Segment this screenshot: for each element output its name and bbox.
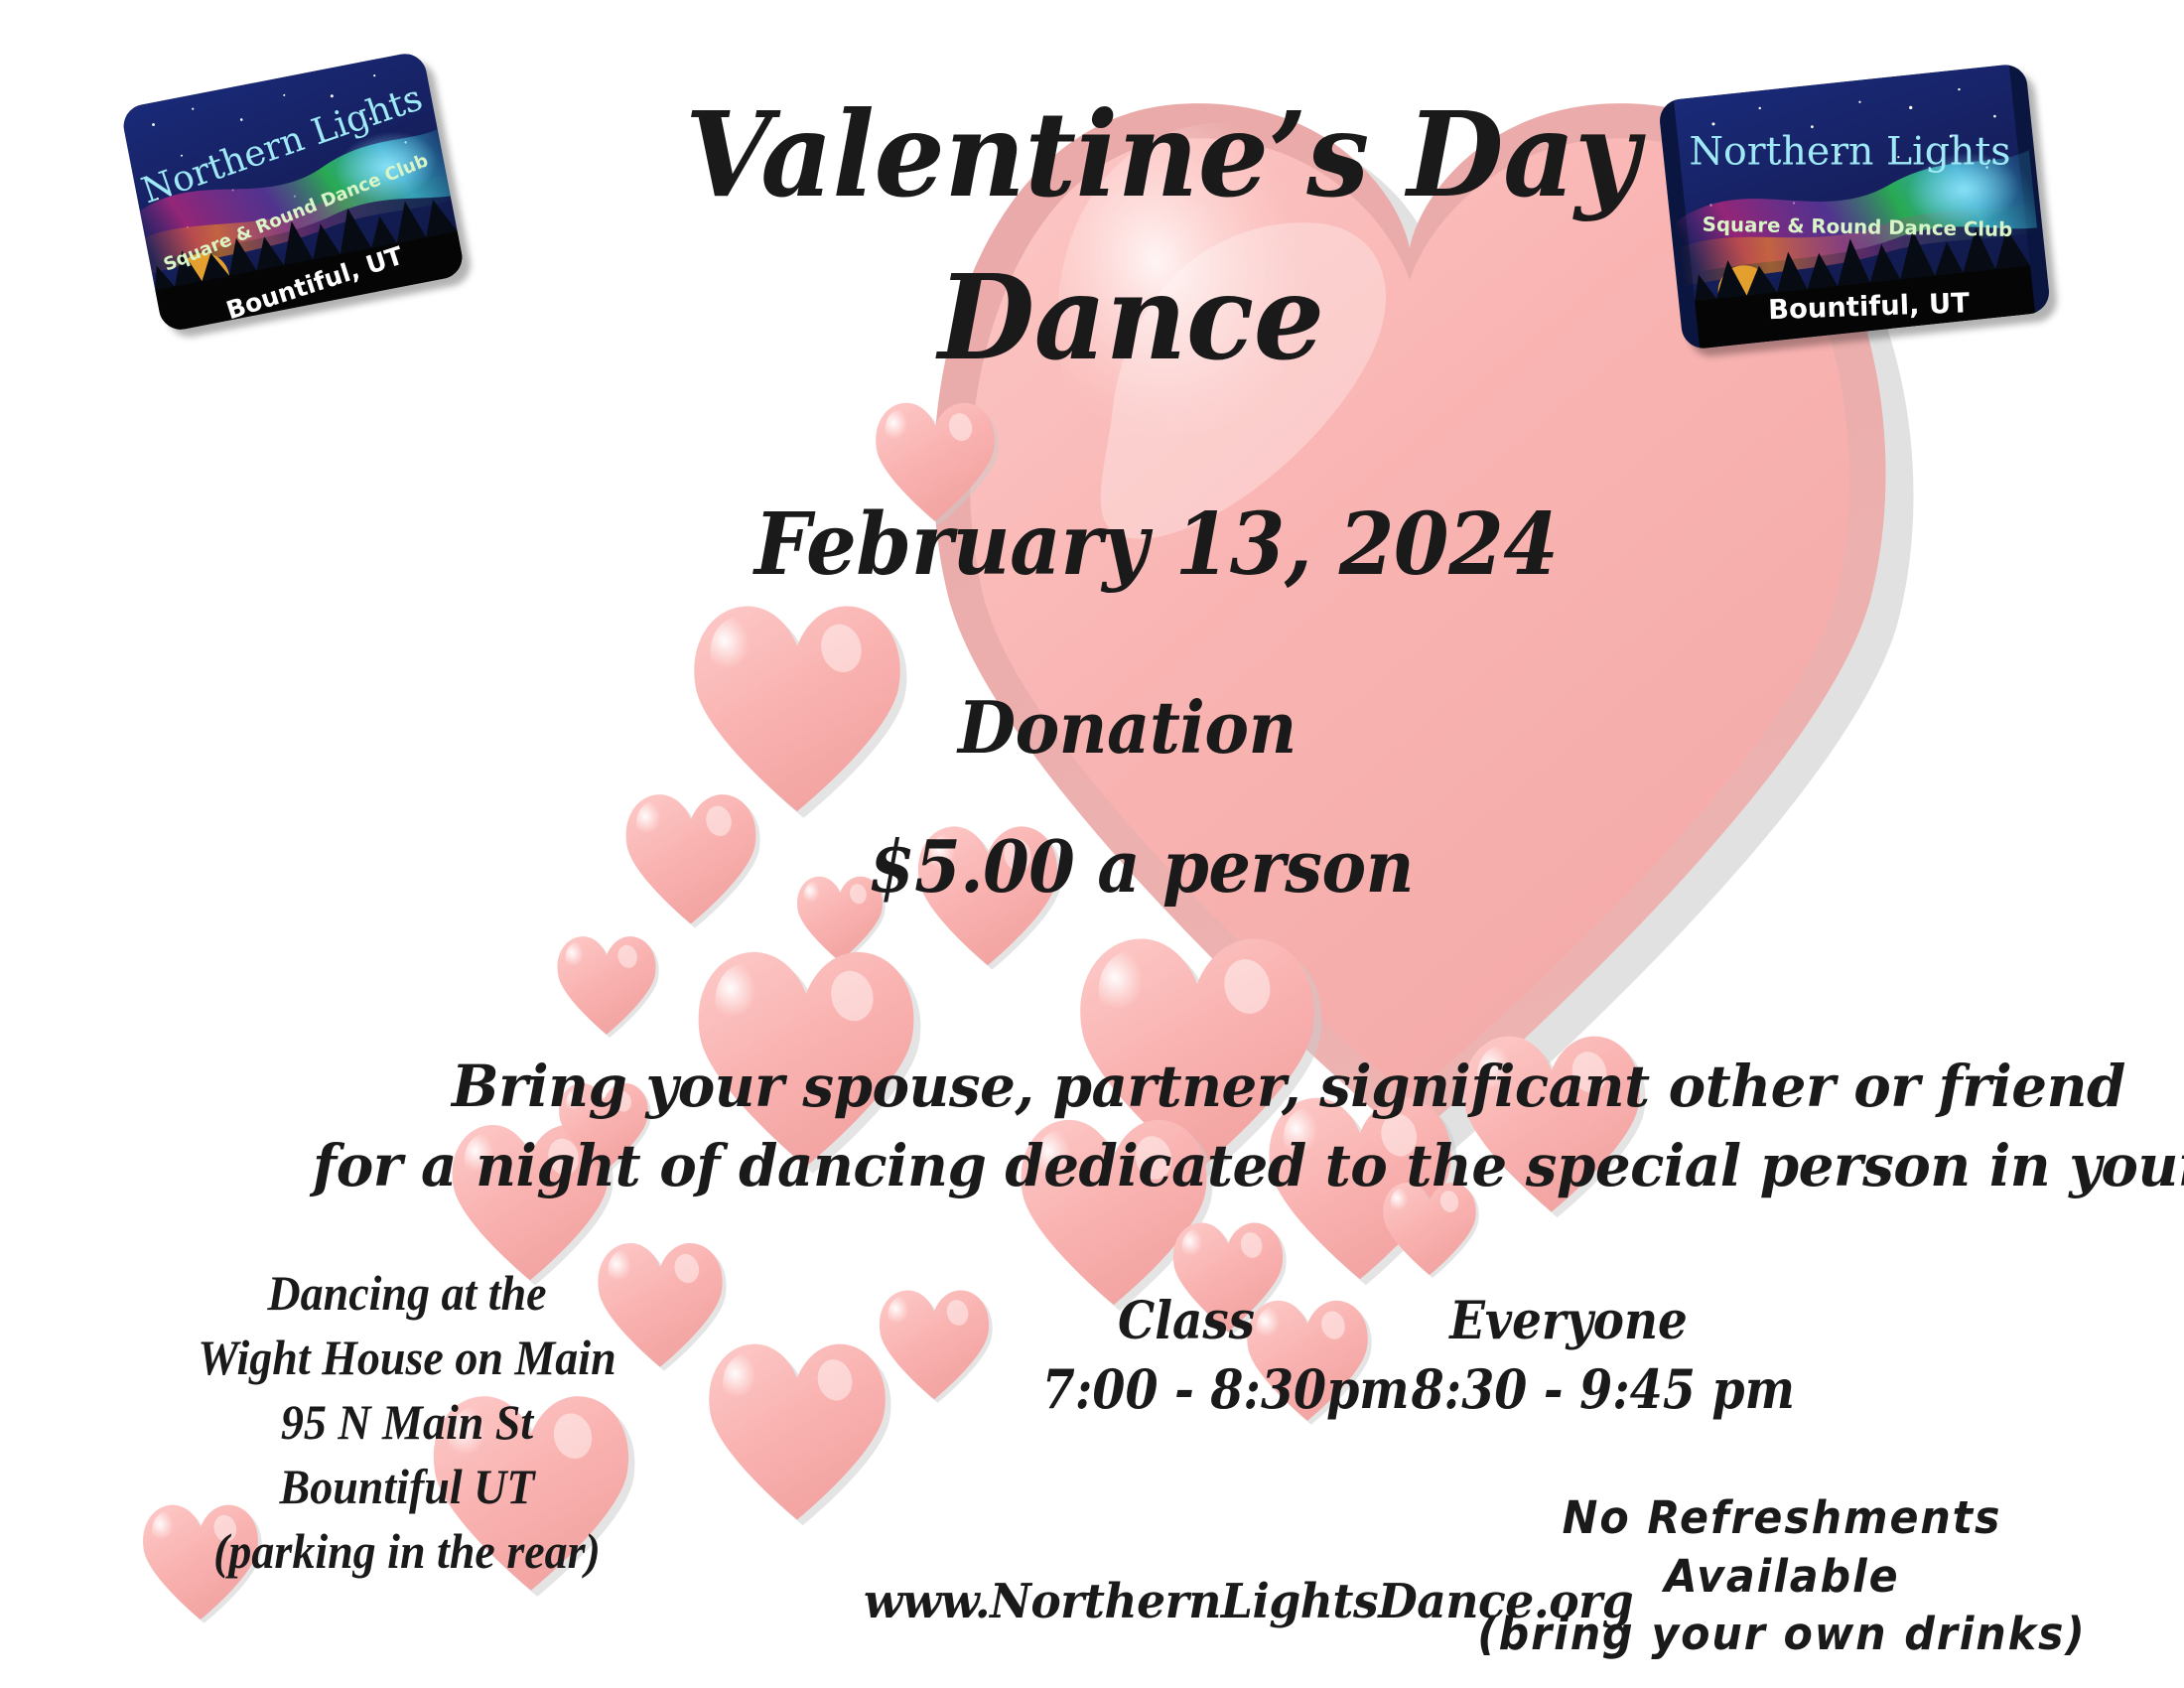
club-logo-badge-right: Northern Lights Square & Round Dance Clu… (1658, 63, 2051, 351)
schedule-time-class: 7:00 - 8:30pm (1042, 1357, 1330, 1421)
donation-label: Donation (958, 685, 1297, 770)
schedule-column-class: Class 7:00 - 8:30pm (1023, 1291, 1350, 1421)
refreshments-notice: No Refreshments Available (bring your ow… (1430, 1489, 2134, 1664)
logo-title-text: Northern Lights (1690, 129, 2011, 175)
club-logo-badge-left: Northern Lights Square & Round Dance Clu… (120, 51, 466, 334)
schedule-label-class: Class (1039, 1291, 1334, 1351)
schedule-column-everyone: Everyone 8:30 - 9:45 pm (1390, 1291, 1747, 1421)
venue-line-3: 95 N Main St (193, 1390, 621, 1455)
venue-line-2: Wight House on Main (193, 1326, 621, 1390)
venue-parking-note: (parking in the rear) (193, 1519, 621, 1584)
invitation-line-2: for a night of dancing dedicated to the … (313, 1132, 2184, 1199)
flyer-title-line-1: Valentine’s Day (685, 85, 1639, 223)
invitation-line-1: Bring your spouse, partner, significant … (452, 1053, 2125, 1120)
refreshments-line-1: No Refreshments (1447, 1489, 2117, 1548)
donation-amount: $5.00 a person (869, 824, 1414, 909)
schedule-time-everyone: 8:30 - 9:45 pm (1412, 1357, 1726, 1421)
venue-line-4: Bountiful UT (193, 1455, 621, 1519)
venue-address-block: Dancing at the Wight House on Main 95 N … (174, 1261, 640, 1584)
schedule-label-everyone: Everyone (1408, 1291, 1729, 1351)
event-date: February 13, 2024 (754, 494, 1558, 595)
flyer-title-line-2: Dance (938, 248, 1324, 386)
venue-line-1: Dancing at the (193, 1261, 621, 1326)
refreshments-line-3: (bring your own drinks) (1447, 1606, 2117, 1664)
refreshments-line-2: Available (1447, 1548, 2117, 1607)
valentines-dance-flyer: Northern Lights Square & Round Dance Clu… (0, 0, 2184, 1688)
